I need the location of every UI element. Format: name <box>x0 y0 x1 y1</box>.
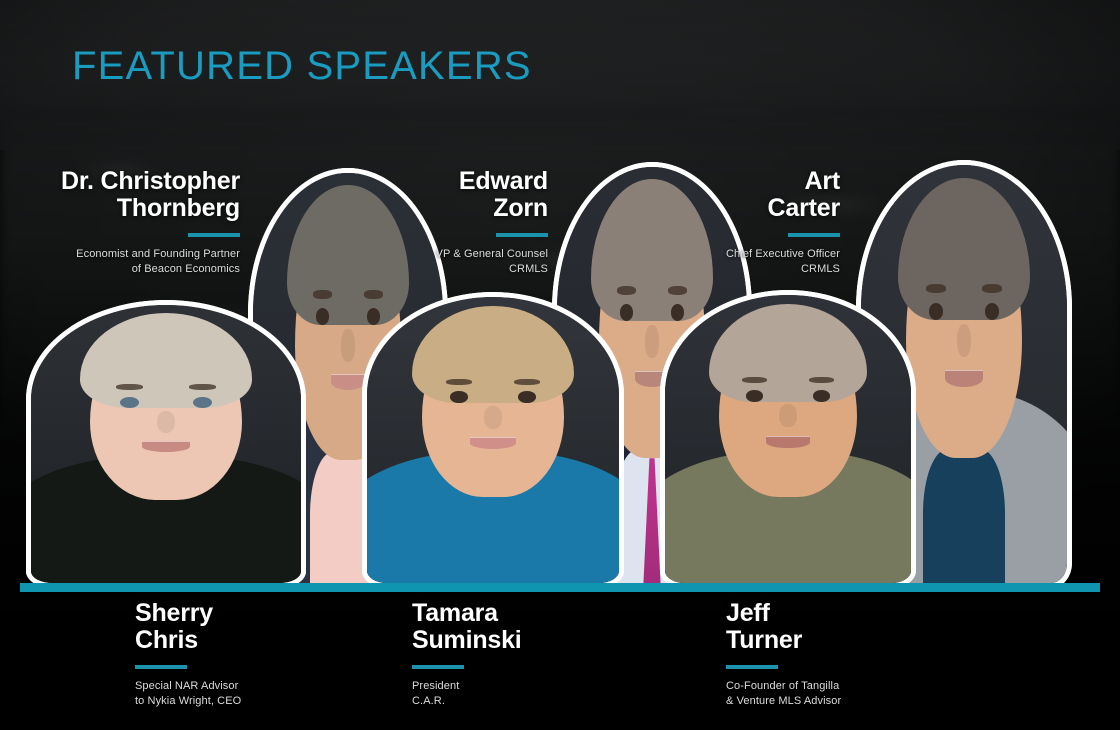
teal-separator-rule <box>20 583 1100 592</box>
speaker-role: Co-Founder of Tangilla & Venture MLS Adv… <box>726 679 976 710</box>
speaker-role: VP & General Counsel CRMLS <box>400 247 548 278</box>
caption-accent-bar <box>726 665 778 669</box>
speaker-name: Jeff Turner <box>726 600 976 654</box>
speaker-caption-sherry-chris: Sherry Chris Special NAR Advisor to Nyki… <box>135 600 365 710</box>
portrait-sherry-chris <box>26 300 306 588</box>
speaker-role: Economist and Founding Partner of Beacon… <box>18 247 240 278</box>
speaker-name: Tamara Suminski <box>412 600 642 654</box>
speaker-name: Sherry Chris <box>135 600 365 654</box>
speaker-name: Edward Zorn <box>400 168 548 222</box>
caption-accent-bar <box>188 233 240 237</box>
caption-accent-bar <box>135 665 187 669</box>
portrait-tamara-suminski <box>362 292 624 588</box>
speaker-caption-tamara-suminski: Tamara Suminski President C.A.R. <box>412 600 642 710</box>
speaker-caption-jeff-turner: Jeff Turner Co-Founder of Tangilla & Ven… <box>726 600 976 710</box>
featured-speakers-slide: FEATURED SPEAKERS <box>0 0 1120 730</box>
speaker-caption-art-carter: Art Carter Chief Executive Officer CRMLS <box>690 168 840 278</box>
speaker-caption-edward-zorn: Edward Zorn VP & General Counsel CRMLS <box>400 168 548 278</box>
speaker-caption-christopher-thornberg: Dr. Christopher Thornberg Economist and … <box>18 168 240 278</box>
caption-accent-bar <box>496 233 548 237</box>
portrait-jeff-turner <box>660 290 916 588</box>
speaker-name: Dr. Christopher Thornberg <box>18 168 240 222</box>
speaker-role: Special NAR Advisor to Nykia Wright, CEO <box>135 679 365 710</box>
speaker-role: President C.A.R. <box>412 679 642 710</box>
speaker-name: Art Carter <box>690 168 840 222</box>
caption-accent-bar <box>412 665 464 669</box>
caption-accent-bar <box>788 233 840 237</box>
speaker-role: Chief Executive Officer CRMLS <box>690 247 840 278</box>
